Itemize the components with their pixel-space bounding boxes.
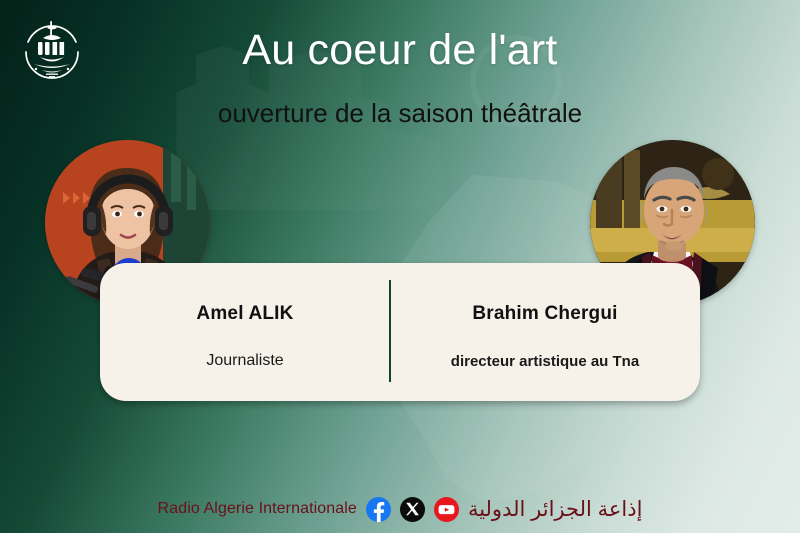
youtube-icon[interactable]: [434, 497, 459, 522]
guest-name: Brahim Chergui: [400, 303, 690, 325]
guest-brahim-chergui: Brahim Chergui directeur artistique au T…: [400, 263, 690, 401]
page-subtitle: ouverture de la saison théâtrale: [0, 96, 800, 130]
guest-amel-alik: Amel ALIK Journaliste: [100, 263, 390, 401]
poster-canvas: Au coeur de l'art ouverture de la saison…: [0, 0, 800, 533]
brand-name-arabic: إذاعة الجزائر الدولية: [468, 497, 643, 522]
guest-role: Journaliste: [100, 352, 390, 370]
guest-name: Amel ALIK: [100, 303, 390, 325]
facebook-icon[interactable]: [366, 497, 391, 522]
page-title: Au coeur de l'art: [0, 24, 800, 76]
brand-name-latin: Radio Algerie Internationale: [158, 500, 357, 518]
x-twitter-icon[interactable]: [400, 497, 425, 522]
guest-role: directeur artistique au Tna: [400, 353, 690, 370]
footer-bar: Radio Algerie Internationale إذاعة الجزا…: [0, 492, 800, 526]
